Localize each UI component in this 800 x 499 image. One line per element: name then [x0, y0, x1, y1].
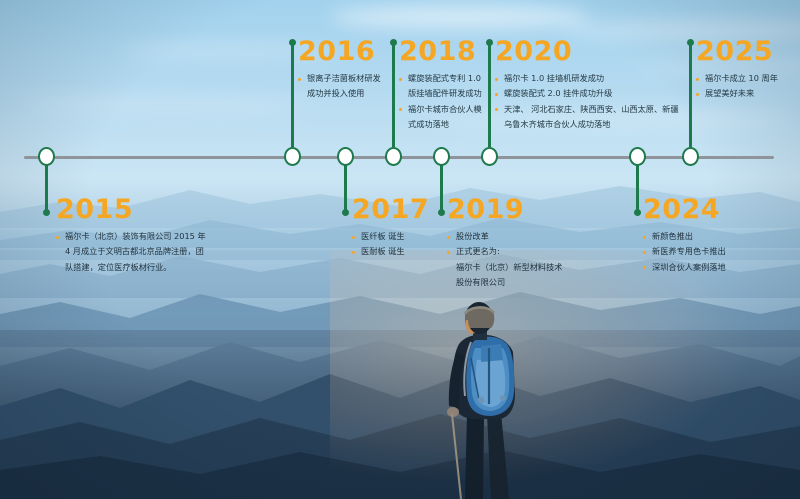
entry-bullets-2017: 医纤板 诞生 医耐板 诞生 — [352, 230, 432, 259]
timeline-node-2025[interactable] — [682, 147, 699, 166]
timeline-node-2024[interactable] — [629, 147, 646, 166]
bullet-item: 银离子洁菌板材研发 — [298, 72, 393, 85]
timeline-entry-2017[interactable]: 2017 医纤板 诞生 医耐板 诞生 — [352, 196, 432, 261]
entry-bullets-2016: 银离子洁菌板材研发 成功并投入使用 — [298, 72, 393, 101]
cloud — [330, 6, 590, 28]
entry-bullets-2025: 福尔卡成立 10 周年 展望美好未来 — [696, 72, 796, 101]
timeline-node-2019[interactable] — [433, 147, 450, 166]
bullet-item: 天津、 河北石家庄、陕西西安、山西太原、新疆 — [495, 103, 680, 116]
entry-bullets-2024: 新颜色推出 新医养专用色卡推出 深圳合伙人案例落地 — [643, 230, 763, 274]
timeline-node-2017[interactable] — [337, 147, 354, 166]
entry-bullets-2019: 股份改革 正式更名为: 福尔卡（北京）新型材料技术 股份有限公司 — [447, 230, 577, 289]
entry-year-2024: 2024 — [643, 196, 763, 223]
bullet-item: 医耐板 诞生 — [352, 245, 432, 258]
entry-year-2015: 2015 — [56, 196, 241, 223]
bullet-item: 股份有限公司 — [447, 276, 577, 289]
timeline-stem-2024 — [636, 165, 639, 213]
bullet-item: 螺旋装配式 2.0 挂件成功升级 — [495, 87, 680, 100]
bullet-item: 医纤板 诞生 — [352, 230, 432, 243]
timeline-stem-2019 — [440, 165, 443, 213]
timeline-stem-2017 — [344, 165, 347, 213]
timeline-stem-2025 — [689, 42, 692, 147]
timeline-infographic: 2015 福尔卡（北京）装饰有限公司 2015 年 4 月成立于文明古都北京品牌… — [0, 0, 800, 499]
cloud — [20, 96, 320, 112]
entry-year-2025: 2025 — [696, 38, 796, 65]
mountain-ridge-foreground — [0, 352, 800, 499]
bullet-item: 乌鲁木齐城市合伙人成功落地 — [495, 118, 680, 131]
entry-year-2020: 2020 — [495, 38, 680, 65]
timeline-entry-2024[interactable]: 2024 新颜色推出 新医养专用色卡推出 深圳合伙人案例落地 — [643, 196, 763, 276]
bullet-item: 4 月成立于文明古都北京品牌注册，团 — [56, 245, 241, 258]
timeline-entry-2015[interactable]: 2015 福尔卡（北京）装饰有限公司 2015 年 4 月成立于文明古都北京品牌… — [56, 196, 241, 276]
timeline-entry-2018[interactable]: 2018 螺旋装配式专利 1.0 版挂墙配件研发成功 福尔卡城市合伙人模 式成功… — [399, 38, 499, 133]
bullet-item: 福尔卡城市合伙人模 — [399, 103, 499, 116]
timeline-entry-2016[interactable]: 2016 银离子洁菌板材研发 成功并投入使用 — [298, 38, 393, 103]
entry-year-2016: 2016 — [298, 38, 393, 65]
bullet-item: 式成功落地 — [399, 118, 499, 131]
bullet-item: 股份改革 — [447, 230, 577, 243]
timeline-stem-2016 — [291, 42, 294, 147]
bullet-item: 成功并投入使用 — [298, 87, 393, 100]
timeline-entry-2025[interactable]: 2025 福尔卡成立 10 周年 展望美好未来 — [696, 38, 796, 103]
bullet-item: 队搭建，定位医疗板材行业。 — [56, 261, 241, 274]
entry-year-2018: 2018 — [399, 38, 499, 65]
bullet-item: 新颜色推出 — [643, 230, 763, 243]
timeline-stem-2015 — [45, 165, 48, 213]
entry-bullets-2018: 螺旋装配式专利 1.0 版挂墙配件研发成功 福尔卡城市合伙人模 式成功落地 — [399, 72, 499, 131]
timeline-node-2016[interactable] — [284, 147, 301, 166]
hiker-figure — [415, 300, 565, 499]
bullet-item: 螺旋装配式专利 1.0 — [399, 72, 499, 85]
bullet-item: 展望美好未来 — [696, 87, 796, 100]
timeline-entry-2020[interactable]: 2020 福尔卡 1.0 挂墙机研发成功 螺旋装配式 2.0 挂件成功升级 天津… — [495, 38, 680, 133]
bullet-item: 新医养专用色卡推出 — [643, 245, 763, 258]
timeline-entry-2019[interactable]: 2019 股份改革 正式更名为: 福尔卡（北京）新型材料技术 股份有限公司 — [447, 196, 577, 291]
entry-bullets-2015: 福尔卡（北京）装饰有限公司 2015 年 4 月成立于文明古都北京品牌注册，团 … — [56, 230, 241, 274]
entry-bullets-2020: 福尔卡 1.0 挂墙机研发成功 螺旋装配式 2.0 挂件成功升级 天津、 河北石… — [495, 72, 680, 131]
bullet-item: 福尔卡 1.0 挂墙机研发成功 — [495, 72, 680, 85]
bullet-item: 福尔卡（北京）新型材料技术 — [447, 261, 577, 274]
timeline-node-2020[interactable] — [481, 147, 498, 166]
bullet-item: 正式更名为: — [447, 245, 577, 258]
bullet-item: 版挂墙配件研发成功 — [399, 87, 499, 100]
entry-year-2017: 2017 — [352, 196, 432, 223]
timeline-node-2018[interactable] — [385, 147, 402, 166]
timeline-node-2015[interactable] — [38, 147, 55, 166]
entry-year-2019: 2019 — [447, 196, 577, 223]
bullet-item: 福尔卡（北京）装饰有限公司 2015 年 — [56, 230, 241, 243]
bullet-item: 福尔卡成立 10 周年 — [696, 72, 796, 85]
bullet-item: 深圳合伙人案例落地 — [643, 261, 763, 274]
